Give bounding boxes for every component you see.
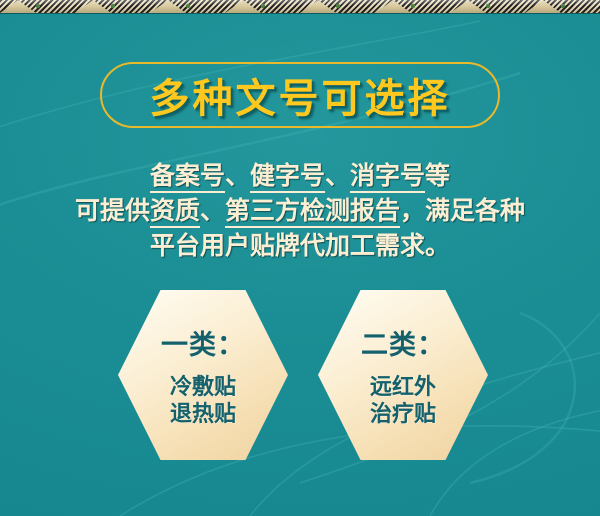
emphasized-text: 第三方检测报告 xyxy=(225,196,400,228)
category-item: 治疗贴 xyxy=(370,401,436,428)
plain-text: 、 xyxy=(225,161,250,190)
plain-text: 、 xyxy=(200,196,225,225)
category-title: 二类： xyxy=(361,323,445,362)
description-line: 备案号、健字号、消字号等 xyxy=(0,158,600,193)
category-title: 一类： xyxy=(161,323,245,362)
category-item: 远红外 xyxy=(370,374,436,401)
plain-text: 、 xyxy=(325,161,350,190)
emphasized-text: 健字号 xyxy=(250,161,325,193)
plain-text: 可提供 xyxy=(75,196,150,225)
emphasized-text: 消字号 xyxy=(350,161,425,193)
category-item: 冷敷贴 xyxy=(170,374,236,401)
category-items: 冷敷贴退热贴 xyxy=(170,374,236,428)
plain-text: 等 xyxy=(425,161,450,190)
category-hexagon-two: 二类： 远红外治疗贴 xyxy=(318,290,488,460)
description-line: 平台用户贴牌代加工需求。 xyxy=(0,228,600,263)
plain-text: ，满足各种 xyxy=(400,196,525,225)
emphasized-text: 备案号 xyxy=(150,161,225,193)
description-line: 可提供资质、第三方检测报告，满足各种 xyxy=(0,193,600,228)
category-item: 退热贴 xyxy=(170,401,236,428)
promo-poster: 多种文号可选择 备案号、健字号、消字号等 可提供资质、第三方检测报告，满足各种 … xyxy=(0,0,600,516)
emphasized-text: 资质 xyxy=(150,196,200,228)
ornamental-band-dots-icon xyxy=(0,0,600,13)
category-hexagon-one: 一类： 冷敷贴退热贴 xyxy=(118,290,288,460)
plain-text: 平台用户贴牌代加工需求。 xyxy=(150,231,450,260)
page-title: 多种文号可选择 xyxy=(100,62,500,128)
description-paragraph: 备案号、健字号、消字号等 可提供资质、第三方检测报告，满足各种 平台用户贴牌代加… xyxy=(0,158,600,263)
category-items: 远红外治疗贴 xyxy=(370,374,436,428)
